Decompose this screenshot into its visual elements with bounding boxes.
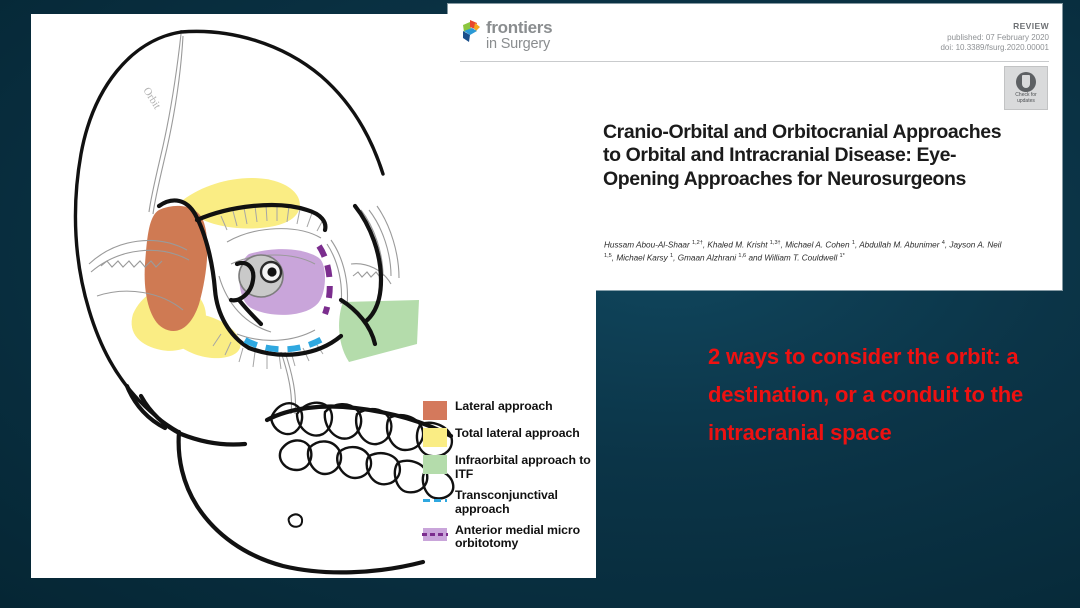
legend-item-total-lateral-approach: Total lateral approach xyxy=(423,427,595,447)
journal-logo: frontiers in Surgery xyxy=(460,18,552,52)
dashed-line-icon xyxy=(423,490,447,509)
legend-item-label: Transconjunctival approach xyxy=(455,489,595,517)
purple-dashed-swatch-icon xyxy=(423,528,447,541)
frontiers-logo-icon xyxy=(460,18,481,44)
crossmark-line-2: updates xyxy=(1015,99,1036,104)
legend-item-label: Anterior medial micro orbitotomy xyxy=(455,524,595,552)
slide-caption-text: 2 ways to consider the orbit: a destinat… xyxy=(708,338,1038,451)
journal-name: frontiers xyxy=(486,19,552,36)
crossmark-badge[interactable]: Check for updates xyxy=(1004,66,1048,110)
figure-legend: Lateral approach Total lateral approach … xyxy=(423,400,595,558)
legend-item-lateral-approach: Lateral approach xyxy=(423,400,595,420)
color-swatch-icon xyxy=(423,428,447,447)
doi-text: doi: 10.3389/fsurg.2020.00001 xyxy=(940,43,1049,52)
published-date: published: 07 February 2020 xyxy=(940,33,1049,42)
header-divider xyxy=(460,61,1049,62)
color-swatch-icon xyxy=(423,455,447,474)
legend-item-infraorbital-itf: Infraorbital approach to ITF xyxy=(423,454,595,482)
paper-meta: REVIEW published: 07 February 2020 doi: … xyxy=(940,21,1049,52)
paper-screenshot-panel: frontiers in Surgery REVIEW published: 0… xyxy=(448,4,1062,290)
journal-section: in Surgery xyxy=(486,37,552,52)
mental-foramen xyxy=(289,514,303,526)
paper-authors: Hussam Abou-Al-Shaar 1,2†, Khaled M. Kri… xyxy=(604,239,1004,264)
legend-item-label: Lateral approach xyxy=(455,400,553,414)
color-swatch-icon xyxy=(423,401,447,420)
paper-title: Cranio-Orbital and Orbitocranial Approac… xyxy=(603,121,1003,191)
legend-item-label: Total lateral approach xyxy=(455,427,580,441)
crossmark-icon xyxy=(1016,72,1036,92)
figure-pencil-annotation: Orbit xyxy=(140,85,162,111)
slide-canvas: Orbit Lateral approach Total lateral app… xyxy=(0,0,1080,608)
legend-item-anterior-medial-orbitotomy: Anterior medial micro orbitotomy xyxy=(423,524,595,552)
skull-illustration: Orbit xyxy=(31,14,461,578)
legend-item-label: Infraorbital approach to ITF xyxy=(455,454,595,482)
transconjunctival-dash-line xyxy=(245,336,327,349)
article-type-label: REVIEW xyxy=(940,21,1049,31)
legend-item-transconjunctival-approach: Transconjunctival approach xyxy=(423,489,595,517)
